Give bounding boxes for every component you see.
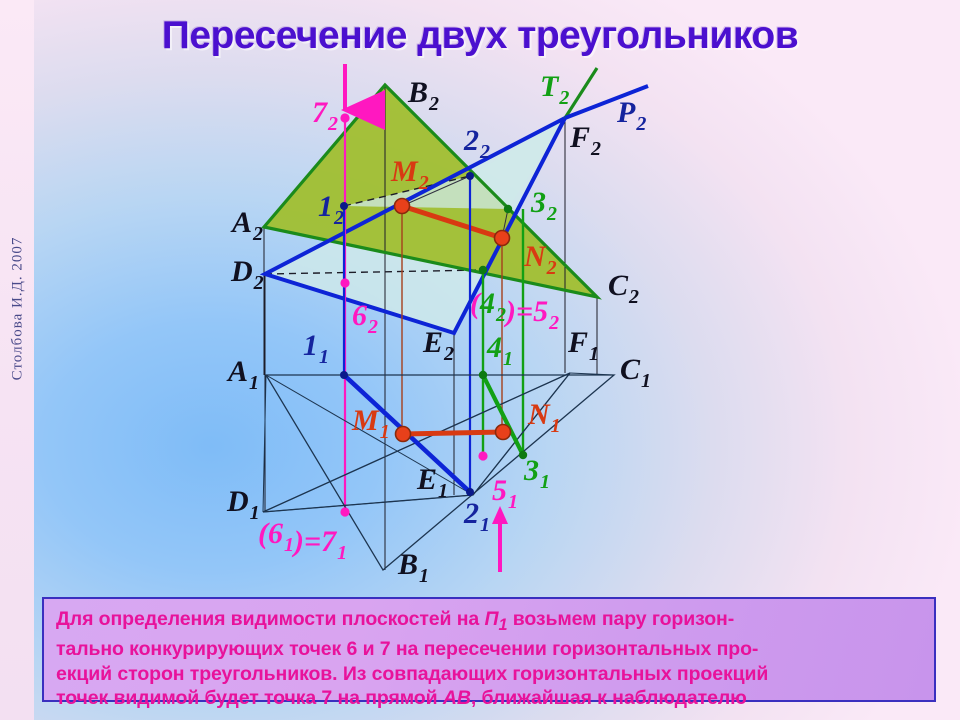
point-m1 xyxy=(396,427,411,442)
slide-root: Столбова И.Д. 2007 Пересечение двух треу… xyxy=(0,0,960,720)
point-n2 xyxy=(495,231,510,246)
label-11: 11 xyxy=(303,329,329,368)
label-C2: C2 xyxy=(608,269,639,308)
point-3-2 xyxy=(504,205,512,213)
label-T2: T2 xyxy=(540,70,569,109)
caption-line-2: тально конкурирующих точек 6 и 7 на пере… xyxy=(56,637,924,662)
point-n1 xyxy=(496,425,511,440)
caption-line-3: екций сторон треугольников. Из совпадающ… xyxy=(56,662,924,687)
caption-line-4: точек видимой будет точка 7 на прямой AB… xyxy=(56,686,924,711)
point-6-2 xyxy=(340,278,349,287)
point-4-2 xyxy=(479,266,487,274)
arrow-bottom xyxy=(492,506,508,572)
point-m2 xyxy=(395,199,410,214)
point-2-2 xyxy=(466,172,474,180)
segment-4131-horizontal xyxy=(483,375,523,455)
caption-line-1: Для определения видимости плоскостей на … xyxy=(56,607,924,637)
label-P2: P2 xyxy=(616,96,646,135)
label-F2: F2 xyxy=(569,121,601,160)
label-F1: F1 xyxy=(567,326,599,365)
point-1-1 xyxy=(340,371,348,379)
label-32: 32 xyxy=(530,186,557,225)
label-41: 41 xyxy=(486,331,513,370)
label-22: 22 xyxy=(463,124,490,163)
point-2-1 xyxy=(466,488,474,496)
label-B1: B1 xyxy=(397,548,429,587)
label-31: 31 xyxy=(523,454,550,493)
label-N1: N1 xyxy=(527,398,561,437)
point-7-2 xyxy=(340,113,349,122)
label-21: 21 xyxy=(463,497,490,536)
label-B2: B2 xyxy=(407,76,439,115)
label-C1: C1 xyxy=(620,353,651,392)
label-72: 72 xyxy=(312,96,338,135)
point-4-1 xyxy=(479,371,487,379)
caption-box: Для определения видимости плоскостей на … xyxy=(42,597,936,702)
label-A2: A2 xyxy=(230,206,263,245)
label-A1: A1 xyxy=(226,355,259,394)
label-D2: D2 xyxy=(230,255,264,294)
point-5-1 xyxy=(478,451,487,460)
label-D1: D1 xyxy=(226,485,260,524)
point-67-1 xyxy=(340,507,349,516)
label-51: 51 xyxy=(492,474,518,513)
descriptive-geometry-drawing: A2B2C2D2E2F2M2N2T2P21222326272A1B1C1D1E1… xyxy=(0,0,960,600)
segment-m1n1 xyxy=(403,432,503,434)
label-61eq71: (61)=71 xyxy=(258,517,347,564)
